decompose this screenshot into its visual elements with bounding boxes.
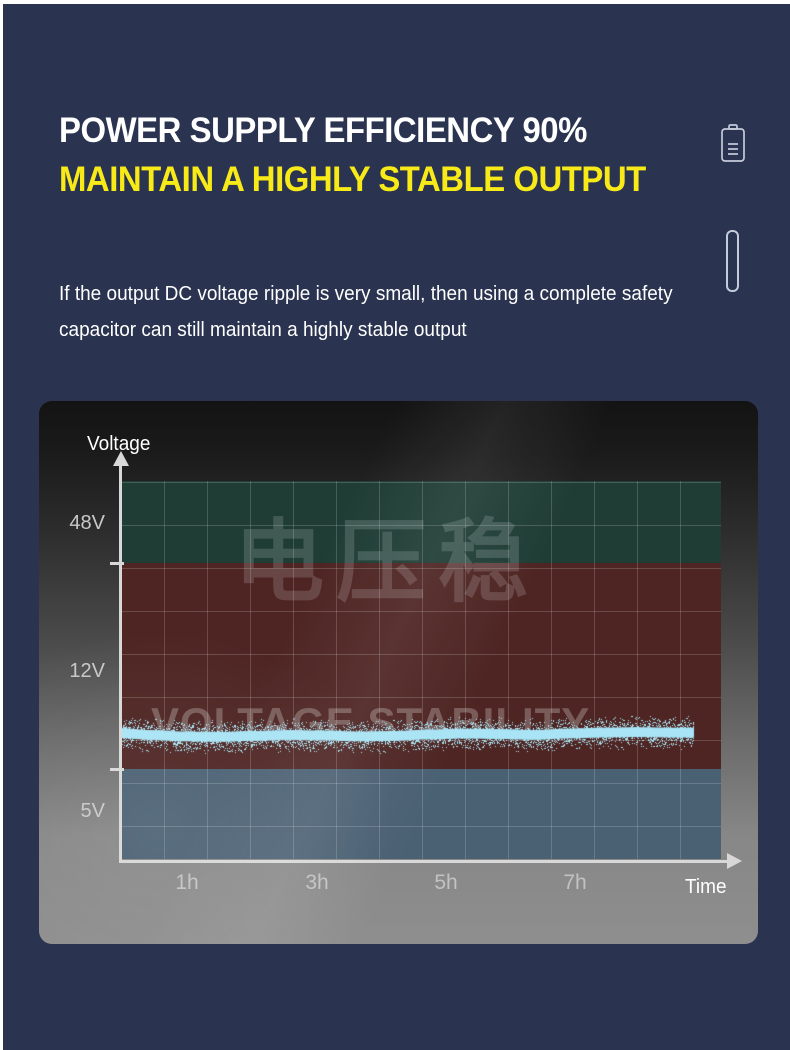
y-label-12v: 12V [49, 660, 105, 683]
y-label-5v: 5V [49, 800, 105, 823]
headline-secondary: MAINTAIN A HIGHLY STABLE OUTPUT [59, 154, 679, 206]
x-axis-arrow [727, 853, 742, 869]
y-tick-48v [110, 562, 124, 565]
voltage-stability-chart: Voltage Time 电压稳 VOLTAGE STABILITY 48V 1… [39, 401, 758, 944]
x-axis-line [119, 860, 729, 863]
headline-block: POWER SUPPLY EFFICIENCY 90% MAINTAIN A H… [59, 108, 719, 206]
x-label-3h: 3h [287, 871, 347, 895]
body-paragraph: If the output DC voltage ripple is very … [59, 276, 677, 348]
x-label-1h: 1h [157, 871, 217, 895]
capacitor-icon [726, 230, 739, 292]
x-axis-title: Time [685, 876, 727, 899]
plot-area: 电压稳 VOLTAGE STABILITY [121, 481, 721, 859]
y-label-48v: 48V [49, 512, 105, 535]
promo-page: POWER SUPPLY EFFICIENCY 90% MAINTAIN A H… [0, 0, 790, 1050]
battery-icon [719, 124, 747, 164]
y-tick-5v [110, 768, 124, 771]
x-label-5h: 5h [416, 871, 476, 895]
ripple-trace [121, 481, 721, 859]
headline-primary: POWER SUPPLY EFFICIENCY 90% [59, 108, 679, 154]
x-label-7h: 7h [545, 871, 605, 895]
y-axis-arrow [113, 451, 129, 466]
y-axis-line [119, 463, 122, 863]
